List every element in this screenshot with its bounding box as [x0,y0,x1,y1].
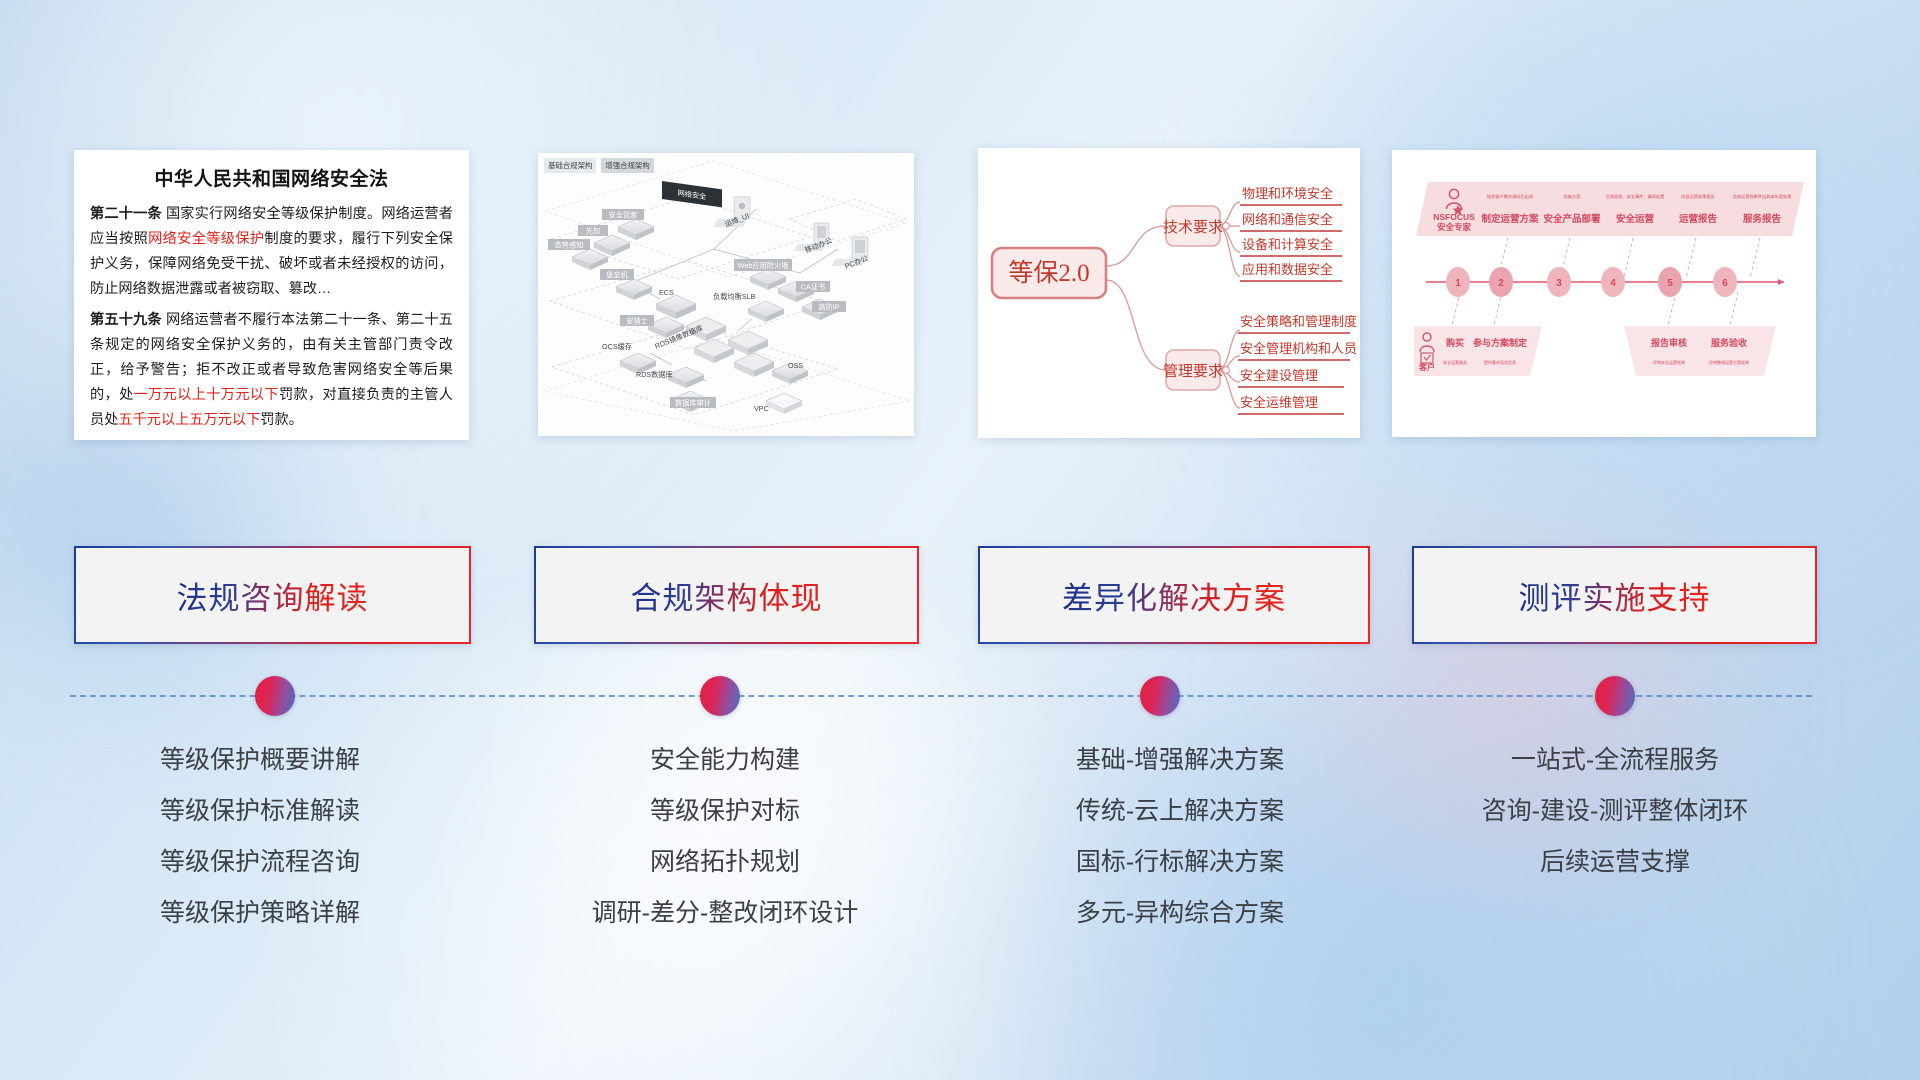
list-item: 多元-异构综合方案 [985,888,1375,939]
svg-text:阶段运营效果报告: 阶段运营效果报告 [1681,193,1715,200]
svg-text:应用和数据安全: 应用和数据安全 [1242,262,1333,277]
section-heading-box-2[interactable]: 合规架构体现 [534,546,919,644]
svg-text:服务验收: 服务验收 [1711,337,1747,348]
svg-text:总结运营效果并出具本年度效果: 总结运营效果并出具本年度效果 [1733,193,1792,200]
mindmap-branch-mgmt: 管理要求 [1163,350,1229,390]
section-list-4: 一站式-全流程服务 咨询-建设-测评整体闭环 后续运营支撑 [1405,735,1825,888]
law-article-21-label: 第二十一条 [90,206,162,222]
illustration-card-row: 中华人民共和国网络安全法 第二十一条 国家实行网络安全等级保护制度。网络运营者应… [0,0,1920,470]
section-item-lists: 等级保护概要讲解 等级保护标准解读 等级保护流程咨询 等级保护策略详解 安全能力… [0,735,1920,1035]
section-heading-label-1: 法规咨询解读 [177,573,369,618]
list-item: 基础-增强解决方案 [985,735,1375,786]
svg-text:4: 4 [1610,278,1616,289]
list-item: 后续运营支撑 [1405,837,1825,888]
svg-text:安全运营服务: 安全运营服务 [1443,359,1467,365]
mindmap-branch-tech: 技术要求 [1163,206,1229,246]
law-article-59: 第五十九条 网络运营者不履行本法第二十一条、第二十五条规定的网络安全保护义务的，… [90,308,453,433]
architecture-svg: 网络安全 安全管家 先知 态势感知 堡垒机 安骑士 Web应用防火墙 CA证书 … [538,153,914,436]
mindmap-card: 等保2.0 技术要求 管理要求 物理和环境安全 [978,148,1360,438]
svg-text:安全运维管理: 安全运维管理 [1240,395,1318,410]
list-item: 等级保护概要讲解 [70,735,450,786]
svg-text:报告审核: 报告审核 [1651,337,1687,348]
section-heading-label-4: 测评实施支持 [1519,573,1711,618]
mindmap-svg: 等保2.0 技术要求 管理要求 物理和环境安全 [978,148,1360,438]
section-heading-box-4[interactable]: 测评实施支持 [1412,546,1817,644]
svg-text:OSS: OSS [788,361,803,370]
mindmap-mgmt-leaves: 安全策略和管理制度 安全管理机构和人员 安全建设管理 安全运维管理 [1238,314,1357,414]
svg-text:运营报告: 运营报告 [1679,213,1718,225]
svg-text:参与方案制定: 参与方案制定 [1473,337,1528,348]
law-article-21: 第二十一条 国家实行网络安全等级保护制度。网络运营者应当按照网络安全等级保护制度… [90,202,453,302]
svg-text:VPC: VPC [754,404,769,413]
svg-text:安全产品部署: 安全产品部署 [1543,213,1601,225]
section-heading-label-2: 合规架构体现 [631,573,823,618]
law-title: 中华人民共和国网络安全法 [90,164,453,191]
svg-text:客户: 客户 [1418,362,1435,372]
svg-text:安全建设管理: 安全建设管理 [1240,368,1318,383]
timeline-dot-2[interactable] [700,676,740,716]
svg-text:购买: 购买 [1446,337,1464,348]
nsfocus-svg: NSFOCUS 安全专家 结合客户需求调研后出具 制定运营方案 实施方案 安全产… [1392,150,1816,437]
svg-text:态势感知: 态势感知 [555,241,584,250]
svg-text:技术要求: 技术要求 [1163,219,1223,236]
timeline-dot-1[interactable] [255,676,295,716]
section-heading-label-3: 差异化解决方案 [1062,573,1286,618]
list-item: 传统-云上解决方案 [985,786,1375,837]
svg-text:堡垒机: 堡垒机 [606,271,628,280]
svg-text:安全管理机构和人员: 安全管理机构和人员 [1240,341,1357,356]
law-article-21-highlight: 网络安全等级保护 [148,231,264,247]
section-heading-box-1[interactable]: 法规咨询解读 [74,546,471,644]
architecture-node-labels: 安全管家 先知 态势感知 堡垒机 安骑士 Web应用防火墙 CA证书 高防IP … [548,209,869,413]
timeline-arrowhead [1778,279,1784,285]
svg-text:安全运营: 安全运营 [1616,213,1655,225]
svg-text:实施方案: 实施方案 [1564,193,1582,200]
timeline-dot-3[interactable] [1140,676,1180,716]
section-list-2: 安全能力构建 等级保护对标 网络拓扑规划 调研-差分-整改闭环设计 [510,735,940,939]
svg-text:RDS数据库: RDS数据库 [636,370,673,379]
svg-text:ECS: ECS [659,288,674,297]
svg-text:网络和通信安全: 网络和通信安全 [1242,212,1333,227]
list-item: 国标-行标解决方案 [985,837,1375,888]
list-item: 等级保护策略详解 [70,888,450,939]
svg-text:安全专家: 安全专家 [1437,222,1472,232]
law-article-59-highlight-1: 一万元以上十万元以下 [134,387,279,403]
svg-text:评审整改运营方案效果: 评审整改运营方案效果 [1709,359,1749,365]
svg-text:提供基本现状信息: 提供基本现状信息 [1484,359,1516,365]
svg-text:高防IP: 高防IP [818,303,839,312]
list-item: 调研-差分-整改闭环设计 [510,888,940,939]
expert-band [1416,182,1804,236]
architecture-diagram-card: 基础合规架构 增强合规架构 [538,153,914,436]
review-band [1624,326,1776,376]
svg-text:安全管家: 安全管家 [609,211,638,220]
mindmap-root-label: 等保2.0 [1008,259,1089,287]
list-item: 安全能力构建 [510,735,940,786]
law-document-card: 中华人民共和国网络安全法 第二十一条 国家实行网络安全等级保护制度。网络运营者应… [74,150,469,440]
svg-text:制定运营方案: 制定运营方案 [1481,213,1539,225]
section-list-1: 等级保护概要讲解 等级保护标准解读 等级保护流程咨询 等级保护策略详解 [70,735,450,939]
network-security-chip: 网络安全 [662,181,722,207]
svg-text:OCS缓存: OCS缓存 [602,342,632,351]
nsfocus-timeline-card: NSFOCUS 安全专家 结合客户需求调研后出具 制定运营方案 实施方案 安全产… [1392,150,1816,437]
list-item: 咨询-建设-测评整体闭环 [1405,786,1825,837]
svg-text:6: 6 [1722,278,1728,289]
list-item: 等级保护流程咨询 [70,837,450,888]
svg-text:安骑士: 安骑士 [626,317,648,326]
svg-text:1: 1 [1455,278,1461,289]
svg-text:Web应用防火墙: Web应用防火墙 [738,261,789,270]
svg-text:先知: 先知 [586,227,600,236]
list-item: 一站式-全流程服务 [1405,735,1825,786]
svg-text:结合客户需求调研后出具: 结合客户需求调研后出具 [1487,193,1534,200]
section-list-3: 基础-增强解决方案 传统-云上解决方案 国标-行标解决方案 多元-异构综合方案 [985,735,1375,939]
svg-text:CA证书: CA证书 [801,283,825,292]
svg-text:设备和计算安全: 设备和计算安全 [1242,237,1333,252]
svg-text:负载均衡SLB: 负载均衡SLB [713,292,756,301]
timeline-dot-4[interactable] [1595,676,1635,716]
svg-text:NSFOCUS: NSFOCUS [1433,212,1475,222]
list-item: 等级保护标准解读 [70,786,450,837]
law-article-59-label: 第五十九条 [90,312,162,328]
list-item: 网络拓扑规划 [510,837,940,888]
svg-text:管理要求: 管理要求 [1163,363,1223,380]
svg-text:评审安全运营效果: 评审安全运营效果 [1653,359,1685,365]
svg-text:2: 2 [1498,278,1504,289]
svg-text:服务报告: 服务报告 [1743,213,1782,225]
law-article-59-text-3: 罚款。 [260,412,303,428]
svg-text:日常巡检、安全事件、漏洞处置: 日常巡检、安全事件、漏洞处置 [1606,193,1665,200]
mindmap-tech-leaves: 物理和环境安全 网络和通信安全 设备和计算安全 应用和数据安全 [1240,186,1342,281]
mindmap-root-node: 等保2.0 [992,248,1106,298]
law-article-59-highlight-2: 五千元以上五万元以下 [118,412,260,428]
svg-text:5: 5 [1667,278,1673,289]
list-item: 等级保护对标 [510,786,940,837]
timeline-dashed-line [70,695,1812,697]
section-heading-box-3[interactable]: 差异化解决方案 [978,546,1370,644]
svg-text:物理和环境安全: 物理和环境安全 [1242,186,1333,201]
svg-text:3: 3 [1556,278,1562,289]
svg-text:数据库审计: 数据库审计 [675,399,711,408]
svg-text:安全策略和管理制度: 安全策略和管理制度 [1240,314,1357,329]
